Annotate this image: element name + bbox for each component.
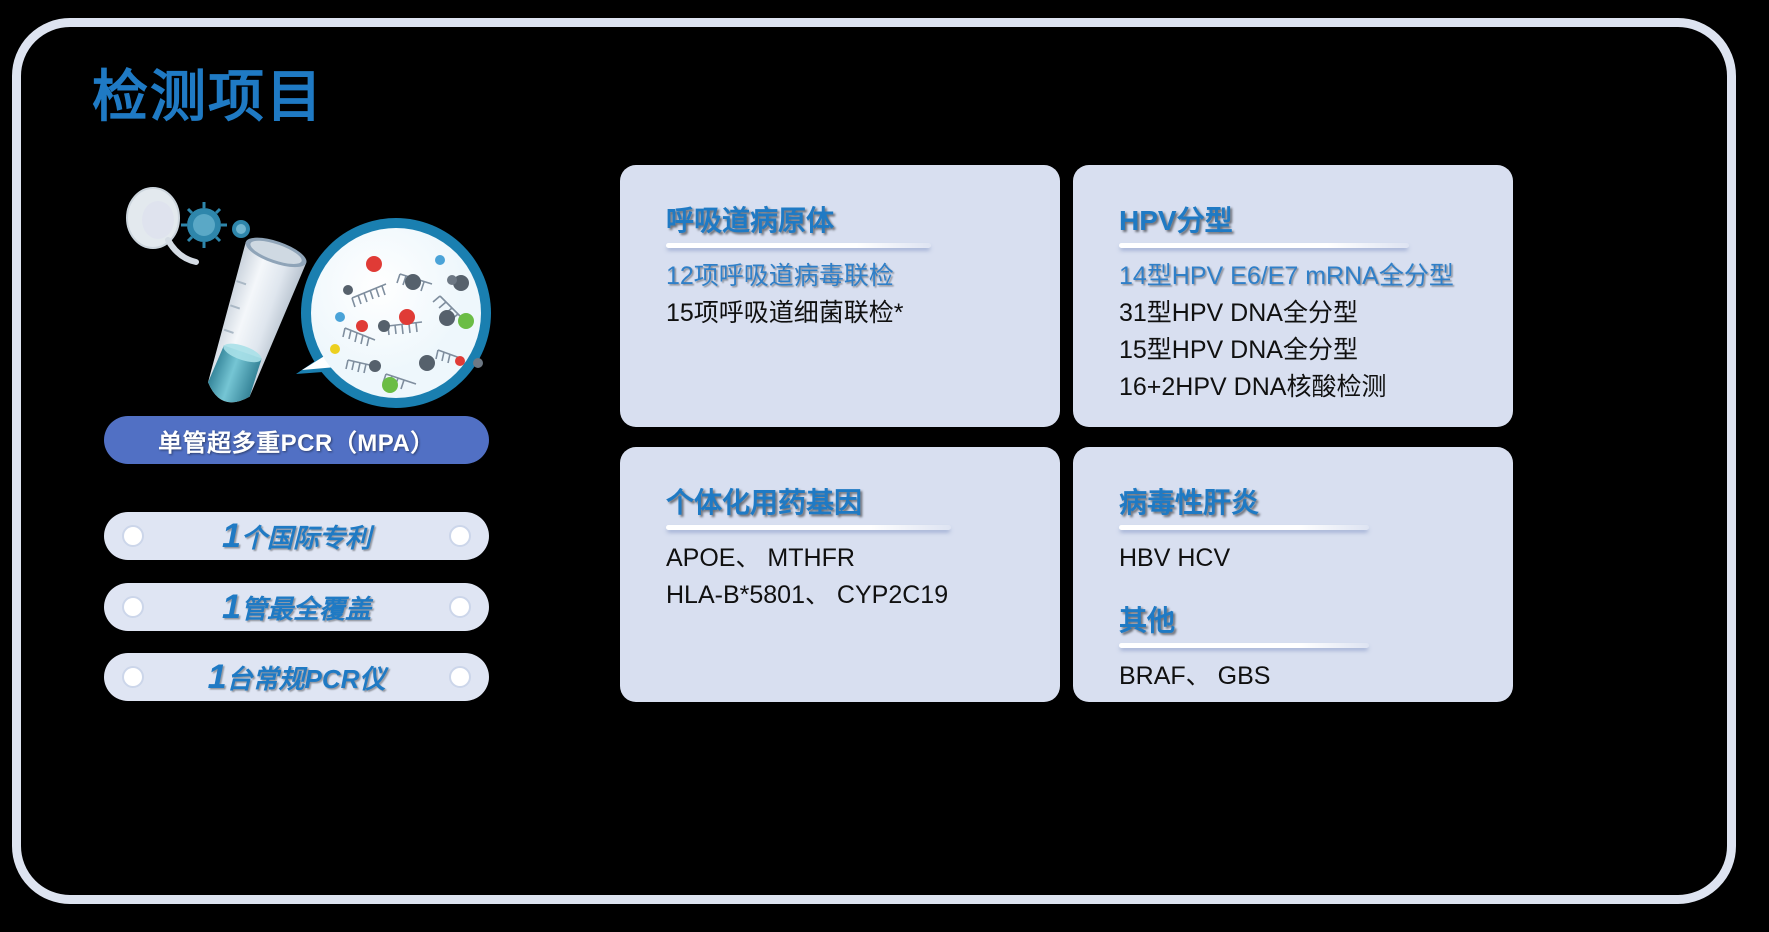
heading-underline bbox=[1119, 525, 1369, 530]
heading-underline bbox=[666, 243, 931, 248]
card-subheading: 其他 bbox=[1119, 599, 1175, 643]
heading-underline bbox=[1119, 243, 1409, 248]
mpa-badge: 单管超多重PCR（MPA） bbox=[104, 416, 489, 464]
feature-pill-2: 1管最全覆盖 bbox=[104, 583, 489, 631]
card-heading: 个体化用药基因 bbox=[666, 481, 862, 525]
virus-particle-large bbox=[181, 202, 227, 248]
magnify-bubble bbox=[296, 218, 491, 408]
heading-underline bbox=[666, 525, 951, 530]
feature-number: 1 bbox=[208, 658, 227, 696]
card-item: 12项呼吸道病毒联检 bbox=[666, 260, 1060, 293]
card-item: 31型HPV DNA全分型 bbox=[1119, 297, 1513, 330]
feature-number: 1 bbox=[222, 588, 241, 626]
card-heading: 呼吸道病原体 bbox=[666, 199, 834, 243]
pill-dot-right bbox=[449, 666, 471, 688]
virus-particle-small bbox=[232, 220, 250, 238]
subheading-underline bbox=[1119, 643, 1369, 648]
card-item: BRAF、 GBS bbox=[1119, 660, 1513, 693]
card-heading: HPV分型 bbox=[1119, 199, 1233, 243]
card-heading: 病毒性肝炎 bbox=[1119, 481, 1259, 525]
card-item: 14型HPV E6/E7 mRNA全分型 bbox=[1119, 260, 1513, 293]
slide-canvas: 检测项目 bbox=[0, 0, 1769, 932]
card-viral-hepatitis: 病毒性肝炎 HBV HCV 其他 BRAF、 GBS bbox=[1073, 447, 1513, 702]
card-item: HLA-B*5801、 CYP2C19 bbox=[666, 579, 1060, 612]
pill-dot-left bbox=[122, 596, 144, 618]
pill-dot-right bbox=[449, 525, 471, 547]
feature-pill-3: 1台常规PCR仪 bbox=[104, 653, 489, 701]
card-pharmacogenomics: 个体化用药基因 APOE、 MTHFR HLA-B*5801、 CYP2C19 bbox=[620, 447, 1060, 702]
card-item: 15型HPV DNA全分型 bbox=[1119, 334, 1513, 367]
pill-dot-left bbox=[122, 525, 144, 547]
pcr-tube bbox=[195, 232, 310, 412]
card-item: APOE、 MTHFR bbox=[666, 542, 1060, 575]
page-title: 检测项目 bbox=[92, 52, 324, 133]
card-item: 16+2HPV DNA核酸检测 bbox=[1119, 371, 1513, 404]
feature-number: 1 bbox=[222, 517, 241, 555]
pill-dot-left bbox=[122, 666, 144, 688]
pill-dot-right bbox=[449, 596, 471, 618]
card-item: 15项呼吸道细菌联检* bbox=[666, 297, 1060, 330]
card-item: HBV HCV bbox=[1119, 542, 1513, 575]
feature-pill-1: 1个国际专利 bbox=[104, 512, 489, 560]
card-respiratory-pathogens: 呼吸道病原体 12项呼吸道病毒联检 15项呼吸道细菌联检* bbox=[620, 165, 1060, 427]
card-hpv-genotyping: HPV分型 14型HPV E6/E7 mRNA全分型 31型HPV DNA全分型… bbox=[1073, 165, 1513, 427]
feature-label: 台常规PCR仪 bbox=[227, 664, 386, 694]
feature-label: 管最全覆盖 bbox=[241, 594, 371, 624]
pcr-tube-illustration bbox=[100, 178, 500, 438]
feature-label: 个国际专利 bbox=[241, 523, 371, 553]
